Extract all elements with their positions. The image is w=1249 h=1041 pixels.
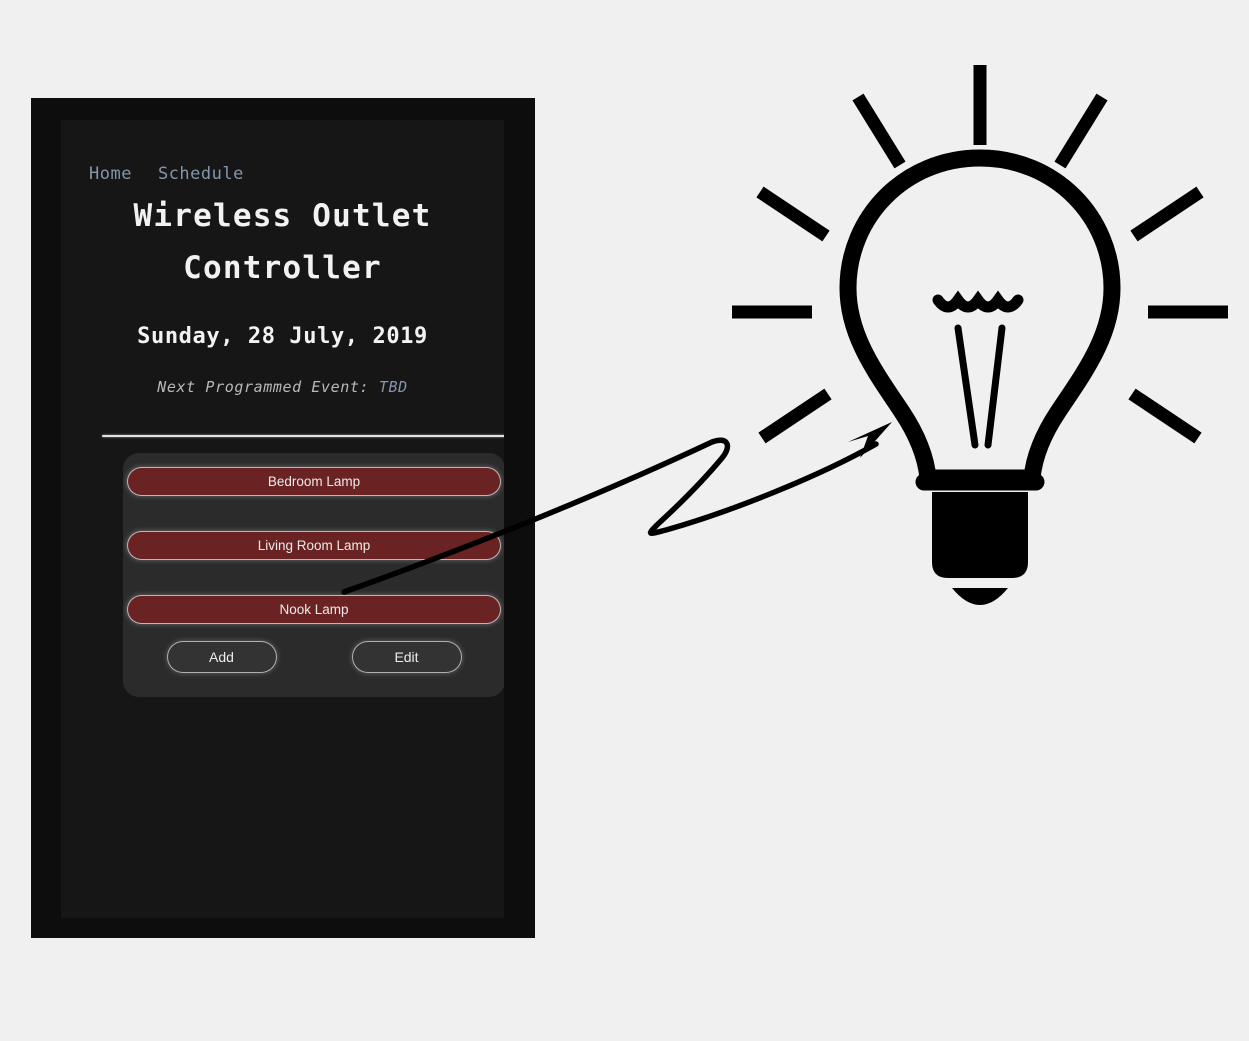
light-rays-group [732, 65, 1228, 438]
current-date: Sunday, 28 July, 2019 [61, 324, 504, 349]
phone-device-frame: Home Schedule Wireless Outlet Controller… [31, 98, 535, 938]
ray-right-upper [1134, 192, 1200, 236]
page-title: Wireless Outlet Controller [61, 190, 504, 294]
next-event-value[interactable]: TBD [379, 378, 408, 396]
panel-action-row: Add Edit [123, 642, 504, 672]
outlet-control-panel: Bedroom Lamp Living Room Lamp Nook Lamp … [123, 453, 504, 697]
bulb-filament [938, 300, 1018, 307]
outlet-list: Bedroom Lamp Living Room Lamp Nook Lamp [123, 453, 504, 623]
ray-upper-left [858, 97, 900, 165]
edit-outlet-button[interactable]: Edit [353, 642, 461, 672]
outlet-toggle-living-room-lamp[interactable]: Living Room Lamp [128, 532, 500, 559]
app-screen: Home Schedule Wireless Outlet Controller… [61, 120, 504, 918]
next-event-row: Next Programmed Event: TBD [61, 378, 504, 396]
filament-wires-group [958, 328, 1002, 445]
lightbulb-icon [700, 40, 1249, 620]
ray-upper-right [1060, 97, 1102, 165]
ray-left-upper [760, 192, 826, 236]
nav-link-schedule[interactable]: Schedule [158, 164, 244, 184]
header-divider [102, 435, 504, 437]
outlet-toggle-nook-lamp[interactable]: Nook Lamp [128, 596, 500, 623]
outlet-toggle-bedroom-lamp[interactable]: Bedroom Lamp [128, 468, 500, 495]
ray-lower-left [762, 394, 828, 438]
bulb-base-tip [952, 588, 1008, 605]
filament-wire-left [958, 328, 975, 445]
top-navigation: Home Schedule [89, 164, 244, 184]
nav-link-home[interactable]: Home [89, 164, 132, 184]
filament-wire-right [988, 328, 1002, 445]
add-outlet-button[interactable]: Add [168, 642, 276, 672]
bulb-glass-outline [848, 158, 1112, 478]
ray-lower-right [1132, 394, 1198, 438]
bulb-screw-base [932, 492, 1028, 578]
next-event-label: Next Programmed Event: [157, 378, 369, 396]
